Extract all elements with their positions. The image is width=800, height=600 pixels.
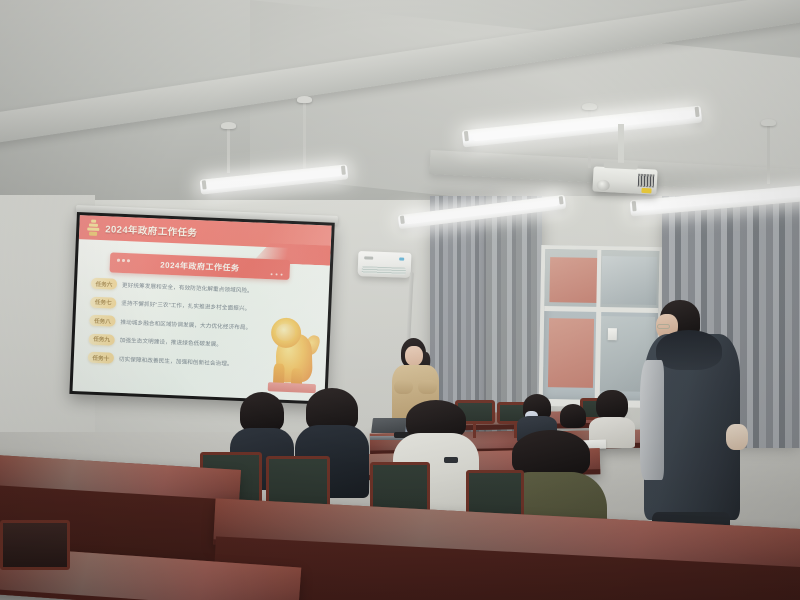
- presenter-arm-right: [418, 380, 437, 394]
- task-text: 坚持不懈抓好“三农”工作，扎实推进乡村全面振兴。: [121, 299, 250, 312]
- task-badge: 任务七: [90, 296, 116, 308]
- light-rod-cap-4: [761, 119, 776, 126]
- ceiling-projector: [592, 166, 657, 194]
- slide-task-item: 任务六 更好统筹发展和安全，有效防范化解重点领域风险。: [91, 278, 319, 299]
- light-rod-cap-1: [221, 122, 236, 129]
- wall-split-air-conditioner: [358, 251, 412, 278]
- task-badge-label: 任务九: [93, 335, 110, 344]
- light-rod-3: [588, 106, 591, 168]
- projector-lens: [596, 180, 610, 192]
- light-rod-cap-2: [297, 96, 312, 103]
- wooden-chair-with-green-seat[interactable]: [0, 520, 70, 600]
- subheader-dots-left: [117, 259, 130, 262]
- task-badge-label: 任务六: [95, 279, 112, 288]
- task-badge: 任务十: [88, 352, 114, 364]
- light-rod-4: [767, 122, 770, 184]
- projector-vent: [638, 174, 655, 188]
- task-badge-label: 任务十: [92, 353, 109, 362]
- subheader-dots-right: [270, 273, 283, 276]
- glasses-icon: [657, 324, 670, 329]
- presenter-arm-left: [394, 380, 413, 394]
- task-text: 推动城乡融合和区域协调发展，大力优化经济布局。: [120, 317, 251, 330]
- jacket-stripe: [444, 457, 457, 463]
- classroom-photo: 2024年政府工作任务 2024年政府工作任务 任务六 更好统筹发展和安全，有效…: [0, 0, 800, 600]
- pull-down-projection-screen: 2024年政府工作任务 2024年政府工作任务 任务六 更好统筹发展和安全，有效…: [69, 212, 334, 405]
- light-rod-2: [303, 100, 306, 172]
- standing-person-hand: [726, 424, 748, 450]
- standing-person-sleeve: [640, 360, 664, 480]
- light-rod-1: [227, 125, 230, 173]
- light-rod-cap-3: [582, 103, 597, 110]
- slide-header-title: 2024年政府工作任务: [105, 221, 198, 239]
- slide-subheader-title: 2024年政府工作任务: [160, 259, 240, 273]
- task-text: 更好统筹发展和安全，有效防范化解重点领域风险。: [122, 280, 253, 293]
- guardian-lion-icon: [267, 309, 322, 393]
- task-badge: 任务九: [88, 333, 114, 345]
- task-badge: 任务六: [91, 278, 117, 290]
- task-badge-label: 任务八: [94, 316, 111, 325]
- presentation-slide: 2024年政府工作任务 2024年政府工作任务 任务六 更好统筹发展和安全，有效…: [73, 215, 332, 401]
- task-text: 切实保障和改善民生，加强和创新社会治理。: [119, 354, 233, 367]
- seated-student-hoodie-right: [596, 390, 628, 446]
- task-text: 加强生态文明建设，推进绿色低碳发展。: [120, 336, 223, 348]
- ac-indicator-light: [399, 258, 404, 261]
- task-badge-label: 任务七: [95, 298, 112, 307]
- presenter-face: [405, 346, 423, 366]
- task-badge: 任务八: [89, 315, 115, 327]
- standing-person-hood: [656, 330, 722, 370]
- pagoda-icon: [86, 219, 100, 236]
